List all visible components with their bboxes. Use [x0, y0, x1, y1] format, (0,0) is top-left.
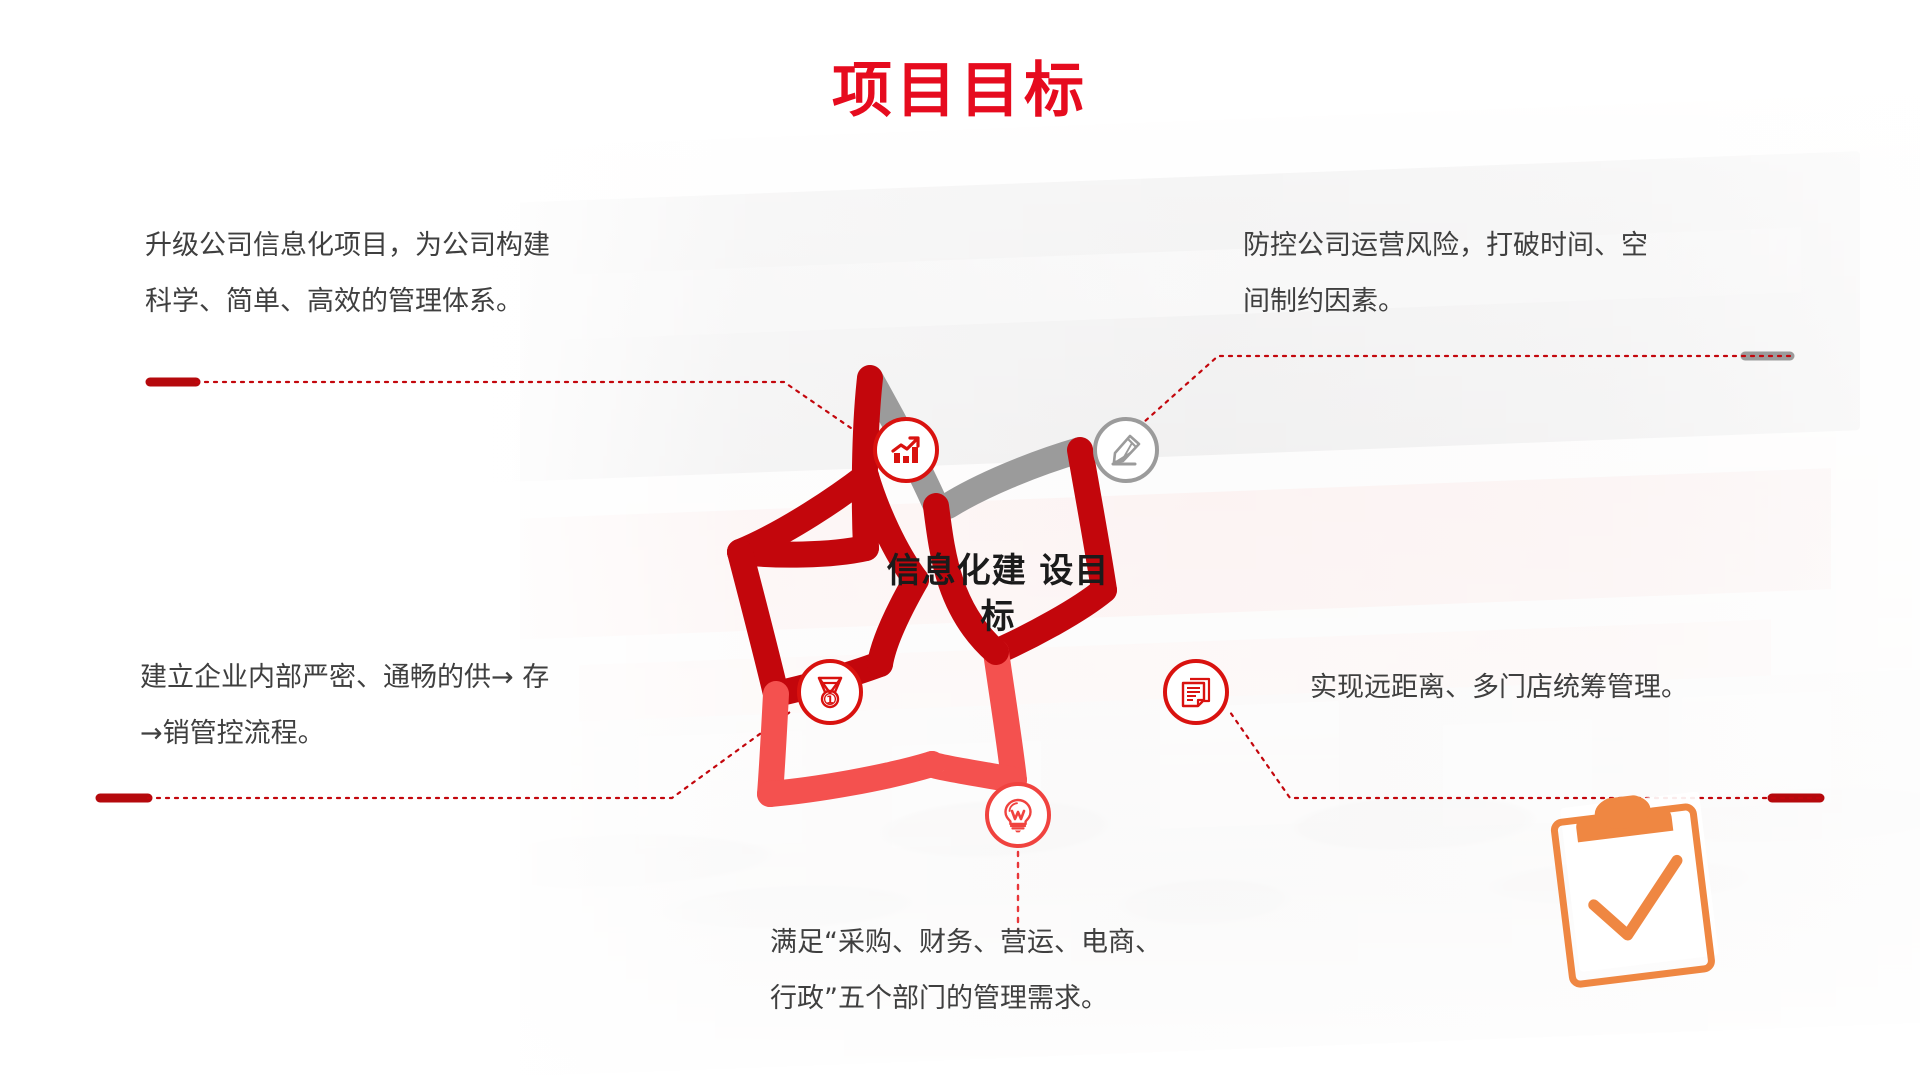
svg-text:1: 1	[826, 694, 834, 707]
goal-text-top-right: 防控公司运营风险，打破时间、空 间制约因素。	[1243, 218, 1823, 330]
document-pages-icon[interactable]	[1163, 659, 1229, 725]
clipboard-check-icon	[1545, 785, 1736, 989]
star-diagram	[680, 280, 1280, 920]
page-title: 项目目标	[0, 42, 1920, 129]
medal-first-place-icon[interactable]: 1	[797, 659, 863, 725]
pencil-edit-icon[interactable]	[1093, 417, 1159, 483]
goal-text-bottom: 满足“采购、财务、营运、电商、 行政”五个部门的管理需求。	[770, 915, 1330, 1027]
goal-text-middle-right: 实现远距离、多门店统筹管理。	[1310, 660, 1870, 716]
slide-root: 项目目标	[0, 0, 1920, 1080]
goal-text-middle-left: 建立企业内部严密、通畅的供→ 存 →销管控流程。	[140, 650, 730, 762]
chart-growth-icon[interactable]	[873, 417, 939, 483]
lightbulb-idea-icon[interactable]	[985, 782, 1051, 848]
goal-text-top-left: 升级公司信息化项目，为公司构建 科学、简单、高效的管理体系。	[145, 218, 735, 330]
